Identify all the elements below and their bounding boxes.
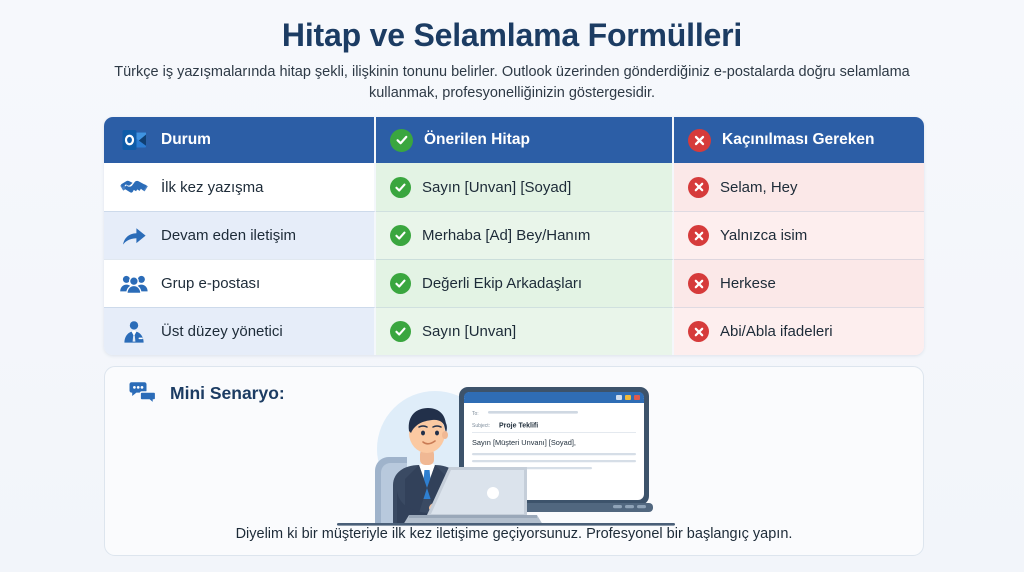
recommended-cell: Sayın [Unvan]	[376, 307, 674, 355]
recommended-label: Sayın [Unvan]	[422, 323, 516, 340]
column-header-onerilen: Önerilen Hitap	[376, 117, 674, 163]
scenario-card: Mini Senaryo: To:	[104, 366, 924, 556]
svg-text:Proje Teklifi: Proje Teklifi	[499, 423, 538, 430]
table-row: İlk kez yazışma Sayın [Unvan] [Soyad]	[104, 163, 924, 211]
table-header-row: Durum Önerilen Hitap	[104, 117, 924, 163]
recommended-label: Değerli Ekip Arkadaşları	[422, 275, 582, 292]
infographic-page: Hitap ve Selamlama Formülleri Türkçe iş …	[0, 0, 1024, 572]
scenario-label: Mini Senaryo:	[170, 383, 285, 404]
executive-person-icon	[118, 317, 150, 347]
handshake-icon	[118, 172, 150, 202]
svg-text:Subject:: Subject:	[472, 423, 490, 429]
scenario-illustration: To: Subject: Proje Teklifi Sayın [Müşter…	[331, 375, 681, 527]
recommended-cell: Sayın [Unvan] [Soyad]	[376, 163, 674, 211]
avoid-cell: Abi/Abla ifadeleri	[674, 307, 924, 355]
situation-label: Grup e-postası	[161, 275, 260, 292]
situation-cell: Devam eden iletişim	[104, 211, 376, 259]
column-header-label: Kaçınılması Gereken	[722, 131, 875, 149]
forward-arrow-icon	[118, 221, 150, 251]
recommended-label: Merhaba [Ad] Bey/Hanım	[422, 227, 590, 244]
situation-cell: Üst düzey yönetici	[104, 307, 376, 355]
table-body: İlk kez yazışma Sayın [Unvan] [Soyad]	[104, 163, 924, 355]
avoid-cell: Yalnızca isim	[674, 211, 924, 259]
avoid-cell: Selam, Hey	[674, 163, 924, 211]
check-circle-icon	[390, 129, 413, 152]
table-row: Devam eden iletişim Merhaba [Ad] Bey/Han…	[104, 211, 924, 259]
page-title: Hitap ve Selamlama Formülleri	[0, 0, 1024, 53]
column-header-kacinilmasi: Kaçınılması Gereken	[674, 117, 924, 163]
x-circle-icon	[688, 129, 711, 152]
situation-label: Üst düzey yönetici	[161, 323, 283, 340]
page-subtitle: Türkçe iş yazışmalarında hitap şekli, il…	[92, 62, 932, 104]
avoid-label: Yalnızca isim	[720, 227, 807, 244]
outlook-icon	[118, 125, 150, 155]
group-people-icon	[118, 269, 150, 299]
recommended-cell: Merhaba [Ad] Bey/Hanım	[376, 211, 674, 259]
check-circle-icon	[390, 225, 411, 246]
x-circle-icon	[688, 321, 709, 342]
x-circle-icon	[688, 225, 709, 246]
check-circle-icon	[390, 273, 411, 294]
avoid-label: Selam, Hey	[720, 179, 798, 196]
situation-label: Devam eden iletişim	[161, 227, 296, 244]
x-circle-icon	[688, 273, 709, 294]
check-circle-icon	[390, 177, 411, 198]
table-row: Grup e-postası Değerli Ekip Arkadaşları	[104, 259, 924, 307]
table-header: Durum Önerilen Hitap	[104, 117, 924, 163]
situation-cell: İlk kez yazışma	[104, 163, 376, 211]
check-circle-icon	[390, 321, 411, 342]
avoid-cell: Herkese	[674, 259, 924, 307]
svg-text:Sayın [Müşteri Unvanı] [Soyad]: Sayın [Müşteri Unvanı] [Soyad],	[472, 438, 576, 447]
avoid-label: Abi/Abla ifadeleri	[720, 323, 833, 340]
x-circle-icon	[688, 177, 709, 198]
chat-bubbles-icon	[127, 378, 159, 408]
greeting-table: Durum Önerilen Hitap	[104, 117, 924, 355]
table-row: Üst düzey yönetici Sayın [Unvan]	[104, 307, 924, 355]
column-header-label: Durum	[161, 131, 211, 149]
situation-cell: Grup e-postası	[104, 259, 376, 307]
situation-label: İlk kez yazışma	[161, 179, 264, 196]
recommended-cell: Değerli Ekip Arkadaşları	[376, 259, 674, 307]
svg-text:To:: To:	[472, 411, 479, 417]
recommended-label: Sayın [Unvan] [Soyad]	[422, 179, 571, 196]
scenario-caption: Diyelim ki bir müşteriyle ilk kez iletiş…	[105, 526, 923, 542]
column-header-label: Önerilen Hitap	[424, 131, 530, 149]
avoid-label: Herkese	[720, 275, 776, 292]
column-header-durum: Durum	[104, 117, 376, 163]
